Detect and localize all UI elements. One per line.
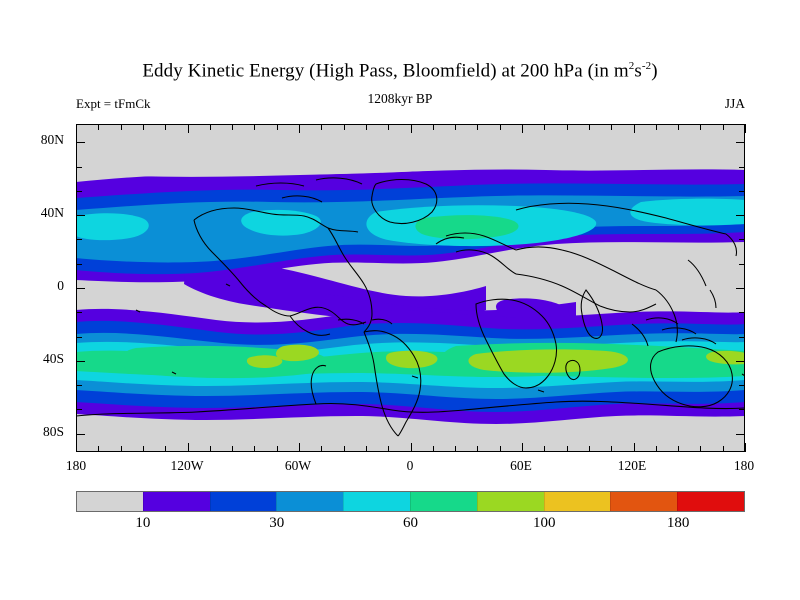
xtick-minor: [567, 446, 568, 452]
colorbar-segment-2[interactable]: [210, 492, 277, 511]
xtick-minor: [611, 446, 612, 452]
xtick-major-top: [188, 124, 189, 133]
colorbar[interactable]: [76, 491, 745, 512]
contour-bands: [76, 124, 745, 452]
ytick-label-40s: 40S: [6, 351, 64, 367]
xtick-minor-top: [455, 124, 456, 130]
ytick-major: [76, 361, 85, 362]
xtick-minor: [366, 446, 367, 452]
xtick-minor: [98, 446, 99, 452]
title-text-mid: s: [634, 60, 642, 81]
xtick-minor: [165, 446, 166, 452]
title-text-before: Eddy Kinetic Energy (High Pass, Bloomfie…: [142, 60, 628, 81]
xtick-minor: [344, 446, 345, 452]
xtick-label-60e: 60E: [491, 458, 551, 474]
ytick-major: [76, 434, 85, 435]
xtick-minor: [433, 446, 434, 452]
xtick-label-180w: 180: [46, 458, 106, 474]
ytick-minor: [76, 191, 82, 192]
colorbar-tick-label-100: 100: [514, 515, 574, 532]
ytick-label-0: 0: [6, 278, 64, 294]
xtick-minor-top: [567, 124, 568, 130]
xtick-minor-top: [388, 124, 389, 130]
xtick-minor: [700, 446, 701, 452]
xtick-minor-top: [477, 124, 478, 130]
colorbar-segment-3[interactable]: [276, 492, 343, 511]
ytick-minor: [76, 337, 82, 338]
xtick-minor-top: [656, 124, 657, 130]
xtick-label-0: 0: [380, 458, 440, 474]
xtick-major-top: [411, 124, 412, 133]
contour-map: [76, 124, 745, 452]
ytick-minor-right: [739, 239, 745, 240]
ytick-label-40n: 40N: [6, 205, 64, 221]
xtick-minor-top: [544, 124, 545, 130]
figure-canvas: Eddy Kinetic Energy (High Pass, Bloomfie…: [0, 0, 800, 600]
ytick-major-right: [736, 288, 745, 289]
xtick-major-top: [745, 124, 746, 133]
xtick-minor-top: [232, 124, 233, 130]
ytick-major-right: [736, 215, 745, 216]
xtick-minor-top: [143, 124, 144, 130]
title-sup-2: -2: [642, 60, 651, 72]
ytick-minor: [76, 239, 82, 240]
ytick-major-right: [736, 142, 745, 143]
xtick-major: [522, 443, 523, 452]
xtick-minor: [477, 446, 478, 452]
colorbar-tick-label-180: 180: [648, 515, 708, 532]
xtick-minor: [210, 446, 211, 452]
colorbar-segment-7[interactable]: [544, 492, 611, 511]
season-label: JJA: [725, 96, 745, 112]
contour-map-svg: [76, 124, 745, 452]
colorbar-segment-4[interactable]: [343, 492, 410, 511]
ytick-minor-right: [739, 264, 745, 265]
ytick-minor-right: [739, 409, 745, 410]
colorbar-tick-label-30: 30: [247, 515, 307, 532]
xtick-minor: [656, 446, 657, 452]
xtick-minor-top: [433, 124, 434, 130]
xtick-minor: [388, 446, 389, 452]
page-title: Eddy Kinetic Energy (High Pass, Bloomfie…: [0, 60, 800, 82]
xtick-minor: [589, 446, 590, 452]
xtick-major-top: [76, 124, 77, 133]
xtick-minor: [232, 446, 233, 452]
xtick-minor-top: [589, 124, 590, 130]
xtick-minor: [321, 446, 322, 452]
ytick-minor-right: [739, 191, 745, 192]
ytick-minor-right: [739, 385, 745, 386]
xtick-major: [745, 443, 746, 452]
xtick-minor: [143, 446, 144, 452]
xtick-major: [76, 443, 77, 452]
xtick-label-120e: 120E: [602, 458, 662, 474]
xtick-minor-top: [366, 124, 367, 130]
xtick-minor-top: [321, 124, 322, 130]
ytick-major: [76, 215, 85, 216]
ytick-major: [76, 288, 85, 289]
xtick-minor: [723, 446, 724, 452]
xtick-major-top: [522, 124, 523, 133]
ytick-minor: [76, 385, 82, 386]
title-text-after: ): [651, 60, 657, 81]
period-label: 1208kyr BP: [0, 91, 800, 107]
colorbar-segment-8[interactable]: [610, 492, 677, 511]
ytick-label-80s: 80S: [6, 424, 64, 440]
xtick-minor: [121, 446, 122, 452]
ytick-major-right: [736, 361, 745, 362]
xtick-minor: [500, 446, 501, 452]
colorbar-segment-0[interactable]: [77, 492, 143, 511]
colorbar-segment-6[interactable]: [477, 492, 544, 511]
xtick-minor-top: [700, 124, 701, 130]
xtick-minor-top: [723, 124, 724, 130]
xtick-minor-top: [500, 124, 501, 130]
colorbar-tick-label-60: 60: [381, 515, 441, 532]
colorbar-tick-label-10: 10: [113, 515, 173, 532]
xtick-minor: [277, 446, 278, 452]
xtick-minor-top: [611, 124, 612, 130]
ytick-minor: [76, 409, 82, 410]
xtick-major: [634, 443, 635, 452]
xtick-minor: [455, 446, 456, 452]
ytick-minor: [76, 312, 82, 313]
xtick-major-top: [634, 124, 635, 133]
xtick-minor: [254, 446, 255, 452]
ytick-label-80n: 80N: [6, 132, 64, 148]
xtick-minor-top: [165, 124, 166, 130]
xtick-major: [299, 443, 300, 452]
xtick-label-120w: 120W: [157, 458, 217, 474]
ytick-major: [76, 142, 85, 143]
xtick-label-60w: 60W: [268, 458, 328, 474]
xtick-major: [188, 443, 189, 452]
colorbar-segment-9[interactable]: [677, 492, 744, 511]
xtick-major-top: [299, 124, 300, 133]
xtick-minor-top: [121, 124, 122, 130]
xtick-minor-top: [678, 124, 679, 130]
ytick-minor: [76, 264, 82, 265]
colorbar-segment-5[interactable]: [410, 492, 477, 511]
xtick-minor-top: [344, 124, 345, 130]
colorbar-segment-1[interactable]: [143, 492, 210, 511]
xtick-minor: [678, 446, 679, 452]
ytick-major-right: [736, 434, 745, 435]
xtick-minor-top: [210, 124, 211, 130]
ytick-minor-right: [739, 312, 745, 313]
xtick-major: [411, 443, 412, 452]
xtick-minor: [544, 446, 545, 452]
xtick-label-180e: 180: [714, 458, 774, 474]
ytick-minor-right: [739, 337, 745, 338]
xtick-minor-top: [98, 124, 99, 130]
xtick-minor-top: [254, 124, 255, 130]
ytick-minor: [76, 167, 82, 168]
xtick-minor-top: [277, 124, 278, 130]
ytick-minor-right: [739, 167, 745, 168]
